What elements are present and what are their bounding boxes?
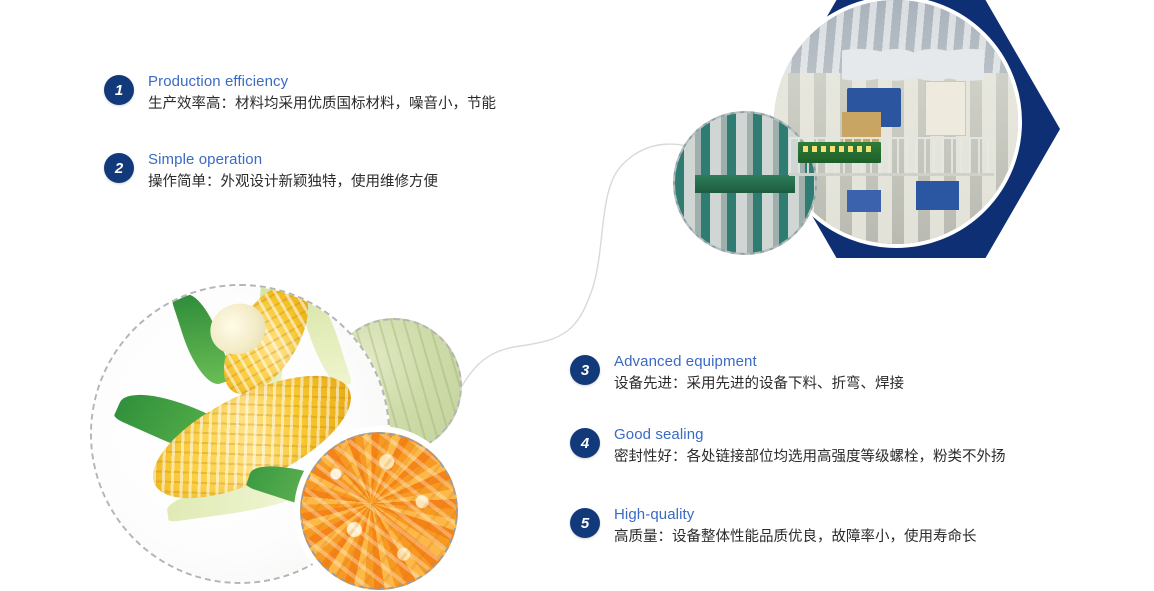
feature-text-2: Simple operation 操作简单：外观设计新颖独特，使用维修方便 bbox=[148, 150, 438, 192]
feature-badge-4: 4 bbox=[570, 428, 600, 458]
feature-text-3: Advanced equipment 设备先进：采用先进的设备下料、折弯、焊接 bbox=[614, 352, 904, 394]
feature-item-4[interactable]: 4 Good sealing 密封性好：各处链接部位均选用高强度等级螺栓，粉类不… bbox=[570, 425, 1006, 467]
hexagon-photo-group bbox=[660, 0, 1154, 284]
promo-banner: 1 Production efficiency 生产效率高：材料均采用优质国标材… bbox=[0, 0, 1154, 591]
feature-title-2: Simple operation bbox=[148, 150, 438, 170]
feature-item-5[interactable]: 5 High-quality 高质量：设备整体性能品质优良，故障率小，使用寿命长 bbox=[570, 505, 977, 547]
feature-badge-2: 2 bbox=[104, 153, 134, 183]
teal-mill-machinery-photo bbox=[673, 111, 817, 255]
feature-text-5: High-quality 高质量：设备整体性能品质优良，故障率小，使用寿命长 bbox=[614, 505, 977, 547]
feature-description-3: 设备先进：采用先进的设备下料、折弯、焊接 bbox=[614, 374, 904, 394]
feature-title-1: Production efficiency bbox=[148, 72, 496, 92]
feature-text-4: Good sealing 密封性好：各处链接部位均选用高强度等级螺栓，粉类不外扬 bbox=[614, 425, 1006, 467]
feature-badge-3: 3 bbox=[570, 355, 600, 385]
feature-text-1: Production efficiency 生产效率高：材料均采用优质国标材料，… bbox=[148, 72, 496, 114]
corn-photo-group bbox=[88, 282, 478, 591]
feature-description-4: 密封性好：各处链接部位均选用高强度等级螺栓，粉类不外扬 bbox=[614, 447, 1006, 467]
feature-item-2[interactable]: 2 Simple operation 操作简单：外观设计新颖独特，使用维修方便 bbox=[104, 150, 438, 192]
corn-kernels-orange-photo bbox=[300, 432, 458, 590]
feature-badge-1: 1 bbox=[104, 75, 134, 105]
feature-description-5: 高质量：设备整体性能品质优良，故障率小，使用寿命长 bbox=[614, 527, 977, 547]
feature-title-5: High-quality bbox=[614, 505, 977, 525]
feature-item-1[interactable]: 1 Production efficiency 生产效率高：材料均采用优质国标材… bbox=[104, 72, 496, 114]
feature-title-3: Advanced equipment bbox=[614, 352, 904, 372]
feature-title-4: Good sealing bbox=[614, 425, 1006, 445]
feature-item-3[interactable]: 3 Advanced equipment 设备先进：采用先进的设备下料、折弯、焊… bbox=[570, 352, 904, 394]
feature-description-2: 操作简单：外观设计新颖独特，使用维修方便 bbox=[148, 172, 438, 192]
feature-description-1: 生产效率高：材料均采用优质国标材料，噪音小，节能 bbox=[148, 94, 496, 114]
feature-badge-5: 5 bbox=[570, 508, 600, 538]
